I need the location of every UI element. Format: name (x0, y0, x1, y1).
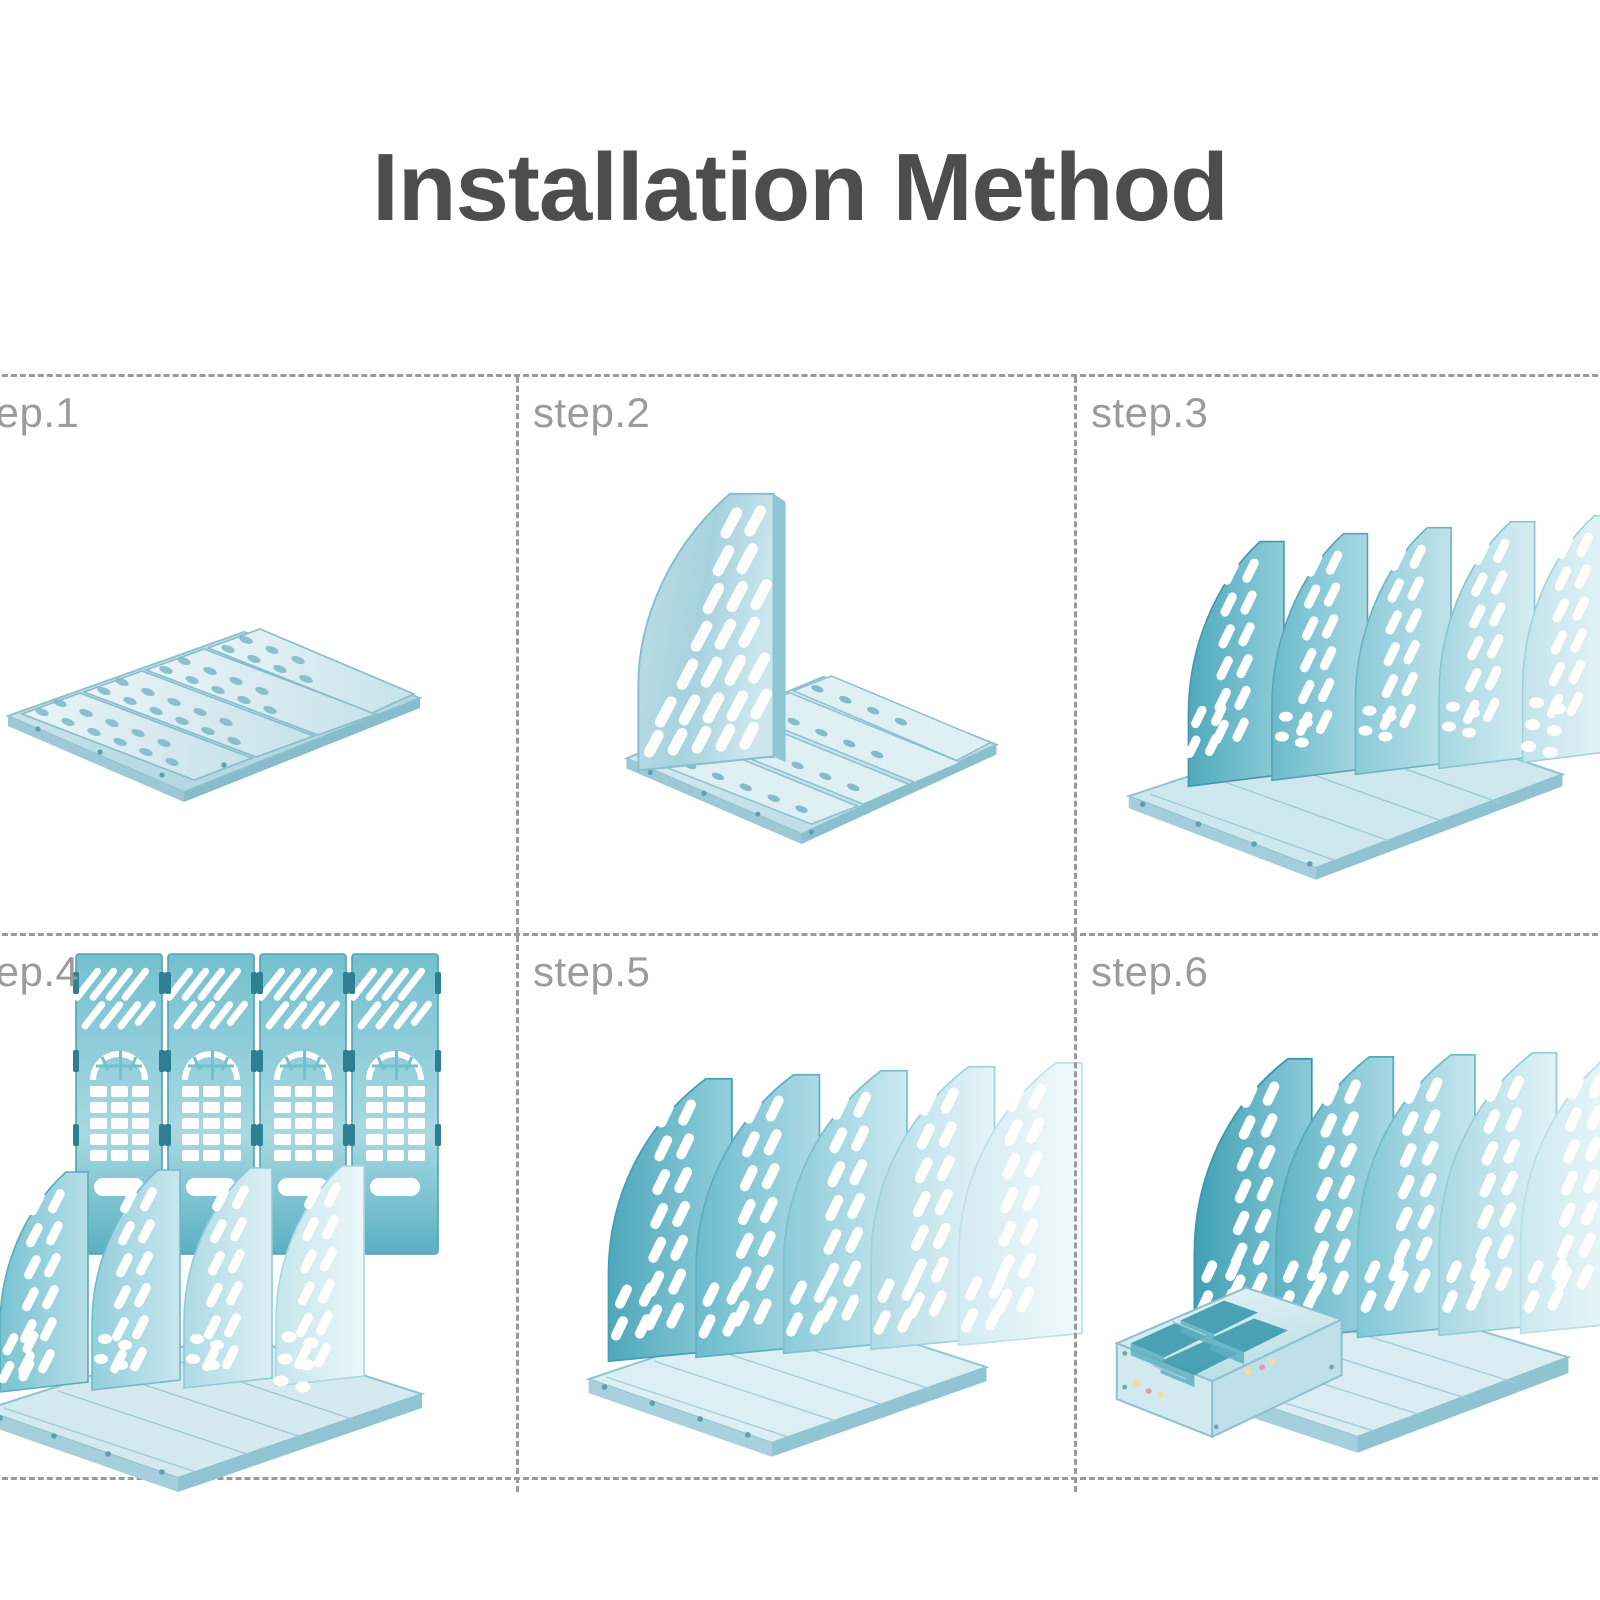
steps-row-top: step.1 (0, 377, 1600, 933)
step-cell-3: step.3 (1074, 377, 1600, 933)
step-label-2: step.2 (533, 389, 650, 437)
step-label-6: step.6 (1091, 948, 1208, 996)
step-label-1: step.1 (0, 389, 79, 437)
step-label-5: step.5 (533, 948, 650, 996)
step-label-4: step.4 (0, 948, 79, 996)
installation-method-page: Installation Method step.1 (0, 0, 1600, 1600)
step-illustration-5 (519, 936, 1084, 1492)
step-label-3: step.3 (1091, 389, 1208, 437)
step-illustration-6 (1077, 936, 1600, 1492)
step-illustration-3 (1077, 377, 1600, 933)
steps-grid: step.1 (0, 374, 1600, 1480)
steps-row-bottom: step.4 (0, 933, 1600, 1489)
step-cell-6: step.6 (1074, 936, 1600, 1492)
step-illustration-4 (0, 936, 516, 1492)
step-cell-4: step.4 (0, 936, 516, 1492)
step-cell-5: step.5 (516, 936, 1084, 1492)
page-title: Installation Method (0, 138, 1600, 239)
step-cell-1: step.1 (0, 377, 516, 933)
step-cell-2: step.2 (516, 377, 1084, 933)
step-illustration-2 (519, 377, 1084, 933)
step-illustration-1 (0, 377, 516, 933)
